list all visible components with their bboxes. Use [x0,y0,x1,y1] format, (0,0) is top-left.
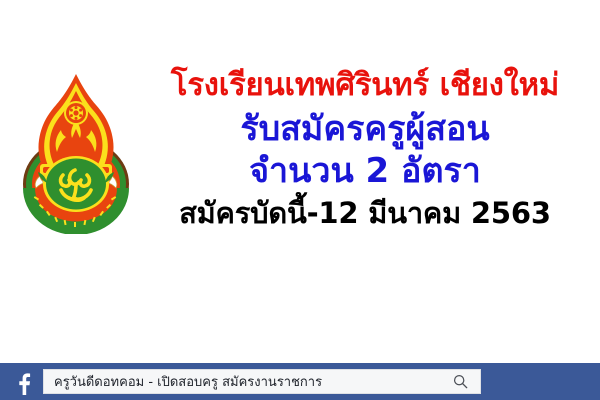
facebook-footer-bar: ครูวันดีดอทคอม - เปิดสอบครู สมัครงานราชก… [0,363,600,400]
recruitment-poster: โรงเรียนเทพศิรินทร์ เชียงใหม่ รับสมัครคร… [0,0,600,400]
facebook-search-field[interactable]: ครูวันดีดอทคอม - เปิดสอบครู สมัครงานราชก… [43,369,481,394]
facebook-search-input[interactable]: ครูวันดีดอทคอม - เปิดสอบครู สมัครงานราชก… [44,371,322,392]
position-heading: รับสมัครครูผู้สอน [140,112,590,146]
announcement-text-block: โรงเรียนเทพศิรินทร์ เชียงใหม่ รับสมัครคร… [140,70,590,228]
application-deadline-heading: สมัครบัดนี้-12 มีนาคม 2563 [140,199,590,228]
obec-ministry-of-education-emblem [16,72,136,234]
facebook-f-icon[interactable] [9,368,36,395]
school-name-heading: โรงเรียนเทพศิรินทร์ เชียงใหม่ [140,70,590,101]
search-icon[interactable] [453,374,480,389]
vacancy-count-heading: จำนวน 2 อัตรา [140,154,590,188]
